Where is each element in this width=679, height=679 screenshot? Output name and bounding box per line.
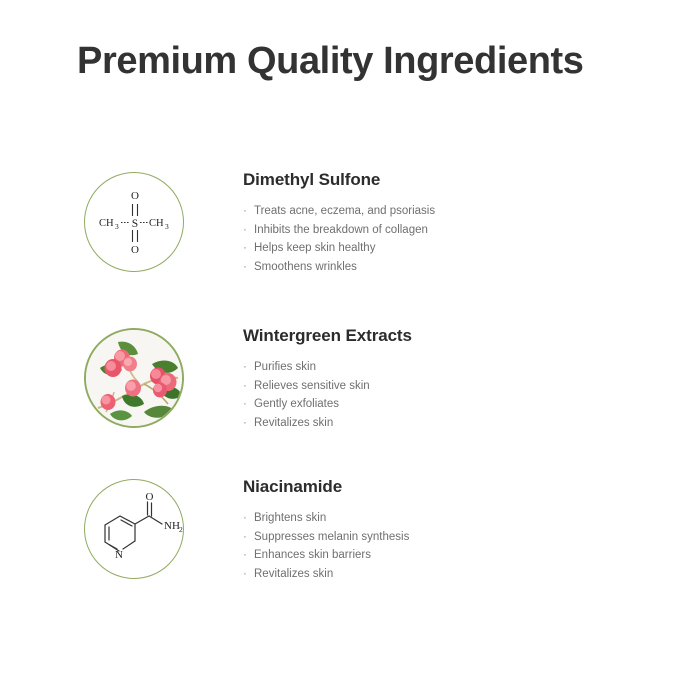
ingredient-details: Niacinamide · Brightens skin · Suppresse… (243, 477, 643, 583)
ingredient-name: Wintergreen Extracts (243, 326, 643, 346)
bullet-icon: · (243, 528, 247, 547)
svg-text:3: 3 (165, 222, 169, 231)
benefit-list: · Treats acne, eczema, and psoriasis · I… (243, 202, 643, 276)
benefit-text: Relieves sensitive skin (254, 380, 370, 392)
benefit-item: · Smoothens wrinkles (243, 258, 643, 277)
ingredient-details: Dimethyl Sulfone · Treats acne, eczema, … (243, 170, 643, 276)
svg-text:O: O (131, 244, 139, 256)
benefit-text: Suppresses melanin synthesis (254, 531, 409, 543)
svg-text:S: S (132, 218, 138, 230)
benefit-list: · Purifies skin · Relieves sensitive ski… (243, 358, 643, 432)
benefit-text: Enhances skin barriers (254, 549, 371, 561)
benefit-text: Brightens skin (254, 512, 326, 524)
svg-text:CH: CH (99, 218, 114, 229)
bullet-icon: · (243, 414, 247, 433)
benefit-text: Smoothens wrinkles (254, 261, 357, 273)
benefit-text: Gently exfoliates (254, 398, 339, 410)
benefit-text: Revitalizes skin (254, 417, 333, 429)
benefit-item: · Treats acne, eczema, and psoriasis (243, 202, 643, 221)
wintergreen-plant-photo (84, 328, 184, 428)
benefit-text: Treats acne, eczema, and psoriasis (254, 205, 435, 217)
bullet-icon: · (243, 546, 247, 565)
svg-text:N: N (115, 549, 123, 561)
ingredient-name: Niacinamide (243, 477, 643, 497)
bullet-icon: · (243, 395, 247, 414)
bullet-icon: · (243, 221, 247, 240)
ingredient-details: Wintergreen Extracts · Purifies skin · R… (243, 326, 643, 432)
svg-text:2: 2 (179, 525, 183, 534)
benefit-item: · Suppresses melanin synthesis (243, 528, 643, 547)
bullet-icon: · (243, 509, 247, 528)
benefit-list: · Brightens skin · Suppresses melanin sy… (243, 509, 643, 583)
bullet-icon: · (243, 239, 247, 258)
benefit-item: · Enhances skin barriers (243, 546, 643, 565)
bullet-icon: · (243, 565, 247, 584)
benefit-text: Purifies skin (254, 361, 316, 373)
benefit-item: · Revitalizes skin (243, 414, 643, 433)
benefit-text: Revitalizes skin (254, 568, 333, 580)
bullet-icon: · (243, 377, 247, 396)
benefit-item: · Gently exfoliates (243, 395, 643, 414)
benefit-item: · Relieves sensitive skin (243, 377, 643, 396)
benefit-item: · Purifies skin (243, 358, 643, 377)
bullet-icon: · (243, 202, 247, 221)
svg-text:NH: NH (164, 520, 180, 532)
dimethyl-sulfone-structure-icon: O CH 3 S CH 3 O (84, 172, 184, 272)
benefit-item: · Brightens skin (243, 509, 643, 528)
niacinamide-structure-icon: N O NH 2 (84, 479, 184, 579)
ingredients-infographic: Premium Quality Ingredients O CH 3 S CH (0, 0, 679, 679)
benefit-text: Helps keep skin healthy (254, 242, 375, 254)
benefit-item: · Revitalizes skin (243, 565, 643, 584)
svg-text:O: O (146, 491, 154, 503)
svg-text:O: O (131, 190, 139, 202)
benefit-item: · Inhibits the breakdown of collagen (243, 221, 643, 240)
ingredient-name: Dimethyl Sulfone (243, 170, 643, 190)
svg-text:CH: CH (149, 218, 164, 229)
svg-text:3: 3 (115, 222, 119, 231)
page-title: Premium Quality Ingredients (77, 38, 584, 84)
bullet-icon: · (243, 258, 247, 277)
benefit-item: · Helps keep skin healthy (243, 239, 643, 258)
bullet-icon: · (243, 358, 247, 377)
benefit-text: Inhibits the breakdown of collagen (254, 224, 428, 236)
